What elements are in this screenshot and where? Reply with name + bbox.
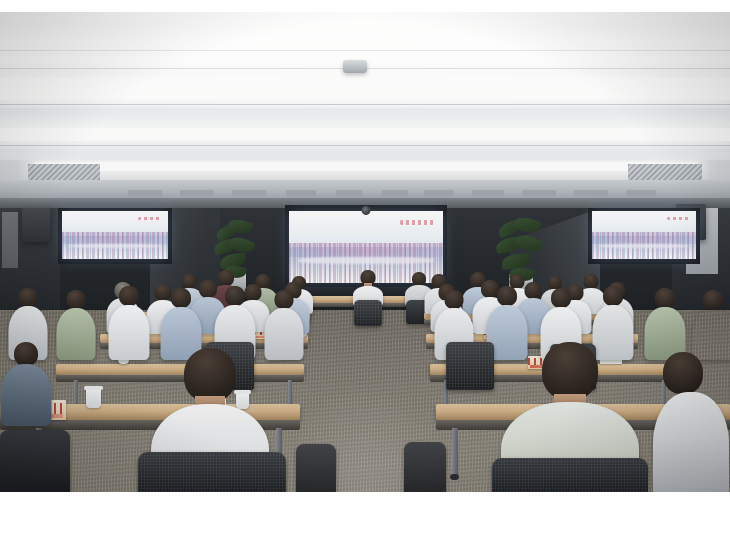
ceiling-light-strip xyxy=(0,38,730,47)
chair-mesh xyxy=(354,300,382,326)
left-screen-skyline xyxy=(62,236,168,244)
ceiling-vent xyxy=(626,190,656,196)
ceiling-vent xyxy=(522,190,556,196)
attendee-head xyxy=(19,288,38,307)
ceiling-vent xyxy=(382,190,408,196)
attendee-torso xyxy=(1,364,52,426)
cup-lid xyxy=(84,386,103,390)
ceiling-vent xyxy=(232,190,266,196)
plant-leaf xyxy=(514,231,544,256)
chair-mesh xyxy=(138,452,286,492)
main-screen-river xyxy=(298,257,434,263)
chair[interactable] xyxy=(296,444,336,492)
ceiling-panel xyxy=(0,152,730,160)
ceiling-seam xyxy=(0,50,730,51)
ceiling-seam xyxy=(0,104,730,105)
attendee-head xyxy=(14,342,38,366)
screenshot-root xyxy=(0,0,730,548)
left-speaker-icon xyxy=(22,208,50,242)
ceiling-vent xyxy=(128,190,162,196)
attendee xyxy=(692,290,730,360)
attendee-head xyxy=(171,288,191,308)
attendee xyxy=(264,290,304,360)
main-screen-skyline xyxy=(289,247,443,257)
ceiling-vent xyxy=(424,190,454,196)
attendee-head xyxy=(655,288,675,308)
ceiling-vent xyxy=(472,190,504,196)
ceiling-vent xyxy=(286,190,316,196)
attendee-head xyxy=(703,290,723,310)
attendee-head xyxy=(119,286,139,306)
ceiling-seam xyxy=(0,145,730,146)
left-screen-logo xyxy=(138,217,161,220)
chair-mesh xyxy=(492,458,648,492)
attendee-torso xyxy=(653,392,729,492)
ceiling-panel xyxy=(0,108,730,126)
wall-column-left xyxy=(2,212,18,268)
ceiling-light-strip xyxy=(0,78,730,100)
ceiling-light-strip xyxy=(0,128,730,141)
chair-mesh xyxy=(446,342,494,390)
right-screen-skyline xyxy=(592,236,696,244)
left-screen[interactable] xyxy=(62,211,168,259)
table-leg xyxy=(74,380,78,406)
left-screen-river xyxy=(68,244,161,248)
ceiling-projector xyxy=(343,60,367,73)
attendee-head xyxy=(497,286,517,306)
attendee xyxy=(652,352,730,492)
chair[interactable] xyxy=(404,442,446,492)
table-leg xyxy=(452,428,458,476)
chair[interactable] xyxy=(0,430,70,492)
attendee xyxy=(0,342,52,426)
attendee xyxy=(56,290,96,360)
table-caster xyxy=(450,474,459,480)
main-screen-logo xyxy=(400,220,434,225)
table-leg xyxy=(288,380,292,406)
ceiling-vent xyxy=(336,190,362,196)
plant-leaf xyxy=(512,214,541,235)
attendee-head xyxy=(542,342,598,400)
attendee xyxy=(108,286,150,360)
attendee-head xyxy=(275,290,294,309)
attendee xyxy=(644,288,686,360)
attendee-head xyxy=(663,352,703,394)
right-screen[interactable] xyxy=(592,211,696,259)
right-screen-river xyxy=(598,244,690,248)
attendee-torso xyxy=(109,305,150,360)
attendee-head xyxy=(184,348,236,402)
conference-room-photo xyxy=(0,12,730,492)
ceiling-vent xyxy=(574,190,608,196)
paper-cup xyxy=(86,388,101,408)
right-screen-logo xyxy=(667,217,690,220)
attendee-head xyxy=(603,286,623,306)
attendee-torso xyxy=(265,308,304,360)
attendee-head xyxy=(225,286,245,306)
attendee-torso xyxy=(57,308,96,360)
attendee-head xyxy=(445,290,464,309)
ceiling-vent xyxy=(180,190,214,196)
attendee-head xyxy=(551,288,571,308)
attendee-head xyxy=(67,290,86,309)
camera-icon xyxy=(362,206,371,215)
ceiling-light-strip xyxy=(34,162,698,171)
